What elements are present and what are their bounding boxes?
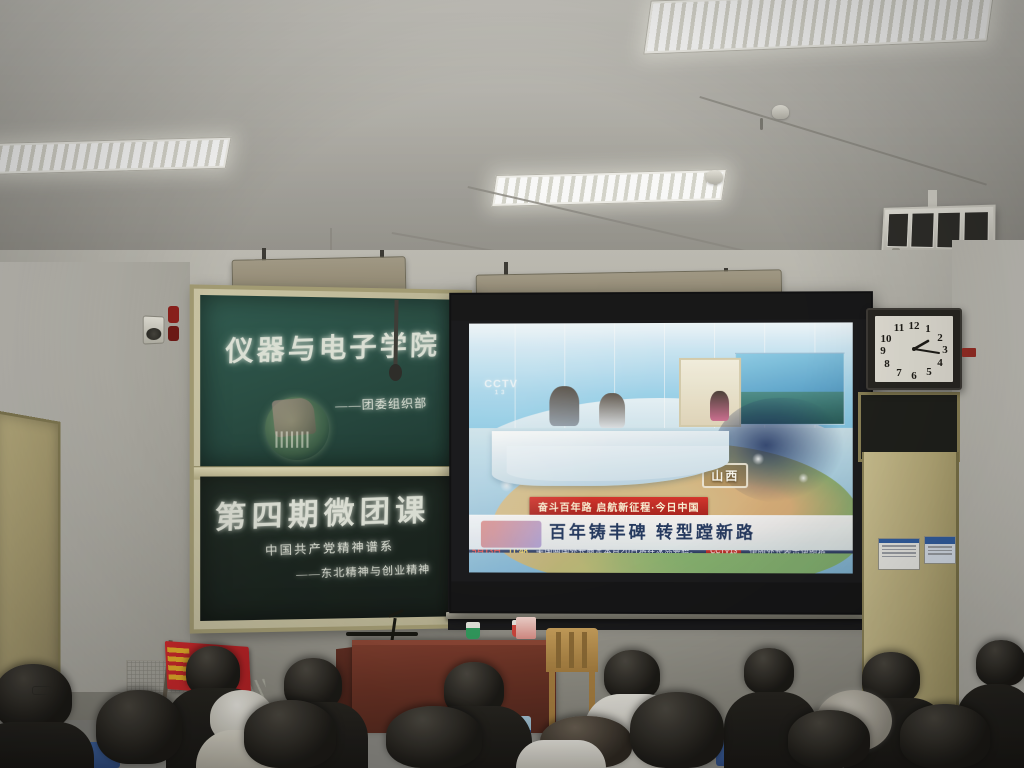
audience-head <box>604 650 660 700</box>
desk-rail <box>346 632 418 636</box>
svg-text:3: 3 <box>942 344 948 356</box>
blackboard-frame: 仪器与电子学院 ——团委组织部 第四期微团课 中国共产党精神谱系 ——东北精神与… <box>190 284 472 633</box>
svg-text:9: 9 <box>880 345 886 357</box>
svg-text:5: 5 <box>926 366 932 378</box>
wall-notice-right <box>924 536 956 564</box>
door-transom-window <box>0 0 62 62</box>
blackboard-lower-attribution: ——东北精神与创业精神 <box>296 561 430 582</box>
studio-mullion <box>664 323 665 443</box>
studio-guest <box>710 390 729 420</box>
audience-head-front <box>386 706 482 768</box>
svg-text:10: 10 <box>881 333 893 345</box>
smoke-detector-icon <box>706 170 723 184</box>
wall-clock: 1212 345 678 91011 <box>866 308 962 390</box>
alarm-light-icon <box>168 306 179 323</box>
chair-slat <box>582 632 587 668</box>
cup-green[interactable] <box>466 622 480 639</box>
news-anchor <box>599 393 626 428</box>
banner-headline: 百年铸丰碑 转型蹚新路 <box>549 518 756 543</box>
blackboard-upper-headline: 仪器与电子学院 <box>225 323 441 369</box>
blackboard-lower-subtitle: 中国共产党精神谱系 <box>265 537 394 559</box>
glasses-icon <box>32 686 52 695</box>
alarm-light-icon <box>168 326 179 341</box>
chair-leg <box>549 670 555 726</box>
wall-speaker-icon <box>143 315 165 344</box>
audience-shoulder-white <box>516 740 606 768</box>
news-anchor <box>549 386 580 426</box>
tissue-box[interactable] <box>516 617 536 639</box>
ticker-headline-2: 伊朗外长表示伊朗将 <box>745 550 830 554</box>
audience-head-front <box>630 692 724 768</box>
ceiling-cable-drop <box>330 228 332 250</box>
ticker-channel-badge: CCTV13 <box>706 550 741 554</box>
blackboard-upper: 仪器与电子学院 ——团委组织部 <box>200 295 458 466</box>
blackboard-lower-headline: 第四期微团课 <box>215 485 431 538</box>
cctv-channel-number: 13 <box>484 390 518 396</box>
svg-text:6: 6 <box>911 370 917 382</box>
banner-main: 百年铸丰碑 转型蹚新路 5月13日 11:48 美国两国外长商定本月20日将在冰… <box>469 514 853 553</box>
audience-head-front <box>96 690 182 764</box>
chalk-drawing-hatching <box>275 431 310 447</box>
audience-head-front <box>900 704 990 768</box>
wall-notice-left <box>878 538 920 570</box>
classroom-photo: 仪器与电子学院 ——团委组织部 第四期微团课 中国共产党精神谱系 ——东北精神与… <box>0 0 1024 768</box>
audience-head <box>744 648 794 694</box>
svg-text:4: 4 <box>937 357 943 369</box>
svg-text:2: 2 <box>937 332 943 344</box>
svg-text:7: 7 <box>896 367 902 379</box>
smoke-detector-icon <box>772 105 789 119</box>
program-logo <box>480 520 541 547</box>
pull-rod-knob[interactable] <box>389 364 402 381</box>
right-wall <box>952 240 1024 710</box>
blackboard-lower: 第四期微团课 中国共产党精神谱系 ——东北精神与创业精神 <box>200 476 458 621</box>
broadcast-image: 山西 CCTV 13 奋斗百年路 启航新征程·今日中国 百年铸丰碑 转型蹚新路 <box>469 322 853 573</box>
projection-screen[interactable]: 山西 CCTV 13 奋斗百年路 启航新征程·今日中国 百年铸丰碑 转型蹚新路 <box>449 291 873 615</box>
svg-text:1: 1 <box>925 323 931 335</box>
screen-bottom-border <box>451 581 871 612</box>
svg-text:12: 12 <box>909 320 921 332</box>
audience-head-front <box>244 700 336 768</box>
svg-text:8: 8 <box>884 358 890 370</box>
blackboard-upper-attribution: ——团委组织部 <box>335 394 428 414</box>
wall-marker-red <box>962 348 976 357</box>
svg-text:11: 11 <box>894 322 904 334</box>
valance-hanger <box>504 262 508 275</box>
cctv-watermark: CCTV 13 <box>484 378 518 396</box>
chair-slat <box>569 632 574 668</box>
audience-head <box>976 640 1024 686</box>
audience-body-front <box>0 722 94 768</box>
audience-head-front <box>788 710 870 768</box>
cctv-watermark-text: CCTV <box>484 378 518 390</box>
sprinkler-head-icon <box>760 118 763 130</box>
banner-kicker: 奋斗百年路 启航新征程·今日中国 <box>530 496 708 515</box>
audience-head-front <box>0 664 72 730</box>
chair-slat <box>556 632 561 668</box>
screen-top-border <box>451 293 871 320</box>
